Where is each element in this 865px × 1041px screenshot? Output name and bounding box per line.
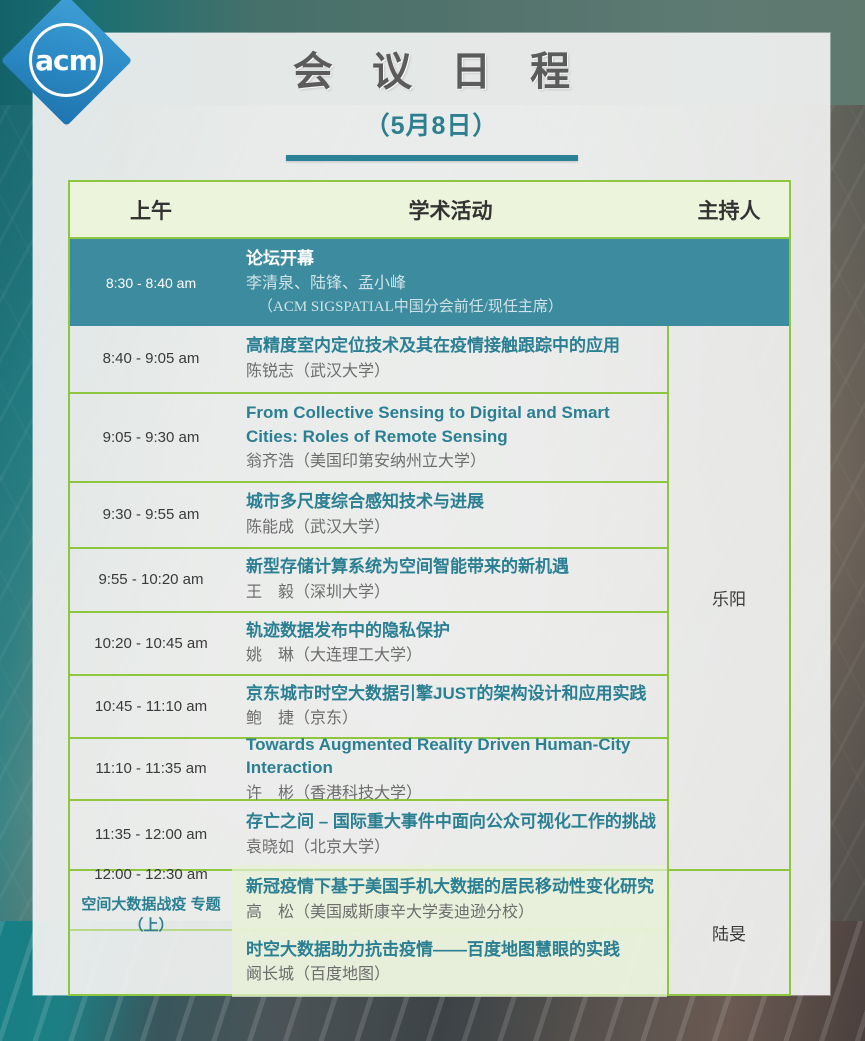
opening-ceremony-row: 8:30 - 8:40 am 论坛开幕 李清泉、陆锋、孟小峰 （ACM SIGS… [70,239,789,326]
host-name: 乐阳 [669,326,789,871]
opening-title: 论坛开幕 [246,247,789,272]
session-title: 轨迹数据发布中的隐私保护 [246,619,657,642]
conference-schedule-poster: acm 会 议 日 程 （5月8日） 上午 学术活动 主持人 8:30 - 8:… [0,0,865,1041]
session-activity: 轨迹数据发布中的隐私保护 姚 琳（大连理工大学） [232,609,667,678]
table-row: 11:35 - 12:00 am 存亡之间 – 国际重大事件中面向公众可视化工作… [70,801,667,871]
opening-time: 8:30 - 8:40 am [70,275,232,291]
session-activity: 新冠疫情下基于美国手机大数据的居民移动性变化研究 高 松（美国威斯康辛大学麦迪逊… [232,865,667,934]
session-title: From Collective Sensing to Digital and S… [246,401,657,448]
table-header-row: 上午 学术活动 主持人 [70,182,789,239]
logo-text: acm [29,23,103,97]
session-speaker: 阚长城（百度地图） [246,963,657,987]
table-row: 时空大数据助力抗击疫情——百度地图慧眼的实践 阚长城（百度地图） [70,931,667,994]
column-header-time: 上午 [70,195,232,225]
session-time: 12:00 - 12:30 am [70,864,232,886]
table-row: 12:00 - 12:30 am 空间大数据战疫 专题（上） 新冠疫情下基于美国… [70,871,667,931]
session-speaker: 高 松（美国威斯康辛大学麦迪逊分校） [246,901,657,925]
session-title: 高精度室内定位技术及其在疫情接触跟踪中的应用 [246,334,657,357]
table-row: 9:05 - 9:30 am From Collective Sensing t… [70,394,667,483]
session-time: 8:40 - 9:05 am [70,348,232,370]
session-title: 城市多尺度综合感知技术与进展 [246,490,657,513]
session-speaker: 姚 琳（大连理工大学） [246,644,657,668]
page-title: 会 议 日 程 [33,48,830,96]
session-activity: 时空大数据助力抗击疫情——百度地图慧眼的实践 阚长城（百度地图） [232,928,667,997]
table-row: 9:55 - 10:20 am 新型存储计算系统为空间智能带来的新机遇 王 毅（… [70,549,667,613]
session-time: 10:20 - 10:45 am [70,633,232,655]
opening-speakers: 李清泉、陆锋、孟小峰 [246,272,789,296]
host-column: 乐阳 陆旻 [669,326,789,994]
session-speaker: 王 毅（深圳大学） [246,581,657,605]
session-time: 9:05 - 9:30 am [70,427,232,449]
column-header-host: 主持人 [669,195,789,225]
opening-affiliation: （ACM SIGSPATIAL中国分会前任/现任主席） [246,296,789,319]
session-activity: From Collective Sensing to Digital and S… [232,391,667,484]
session-title: 存亡之间 – 国际重大事件中面向公众可视化工作的挑战 [246,810,657,833]
opening-body: 论坛开幕 李清泉、陆锋、孟小峰 （ACM SIGSPATIAL中国分会前任/现任… [232,239,789,326]
session-speaker: 翁齐浩（美国印第安纳州立大学） [246,450,657,474]
host-name: 陆旻 [669,871,789,994]
session-title: 时空大数据助力抗击疫情——百度地图慧眼的实践 [246,938,657,961]
table-row: 8:40 - 9:05 am 高精度室内定位技术及其在疫情接触跟踪中的应用 陈锐… [70,326,667,394]
session-time: 9:30 - 9:55 am [70,504,232,526]
session-activity: 新型存储计算系统为空间智能带来的新机遇 王 毅（深圳大学） [232,545,667,614]
page-subtitle: （5月8日） [33,106,830,142]
table-row: 9:30 - 9:55 am 城市多尺度综合感知技术与进展 陈能成（武汉大学） [70,483,667,549]
table-body: 8:40 - 9:05 am 高精度室内定位技术及其在疫情接触跟踪中的应用 陈锐… [70,326,789,994]
session-time: 11:35 - 12:00 am [70,824,232,846]
column-header-activity: 学术活动 [232,195,669,225]
session-time-block: 12:00 - 12:30 am 空间大数据战疫 专题（上） [70,864,232,936]
session-activity: 存亡之间 – 国际重大事件中面向公众可视化工作的挑战 袁晓如（北京大学） [232,800,667,869]
session-title: 新冠疫情下基于美国手机大数据的居民移动性变化研究 [246,875,657,898]
session-speaker: 陈锐志（武汉大学） [246,360,657,384]
session-title: 新型存储计算系统为空间智能带来的新机遇 [246,555,657,578]
table-row: 11:10 - 11:35 am Towards Augmented Reali… [70,739,667,801]
acm-logo: acm [6,2,126,122]
session-time: 11:10 - 11:35 am [70,758,232,780]
sessions-column-group: 8:40 - 9:05 am 高精度室内定位技术及其在疫情接触跟踪中的应用 陈锐… [70,326,669,994]
title-underline [286,155,578,161]
session-title: Towards Augmented Reality Driven Human-C… [246,733,657,780]
schedule-table: 上午 学术活动 主持人 8:30 - 8:40 am 论坛开幕 李清泉、陆锋、孟… [68,180,791,996]
session-title: 京东城市时空大数据引擎JUST的架构设计和应用实践 [246,682,657,705]
title-block: 会 议 日 程 （5月8日） [33,48,830,161]
table-row: 10:20 - 10:45 am 轨迹数据发布中的隐私保护 姚 琳（大连理工大学… [70,613,667,676]
session-activity: 高精度室内定位技术及其在疫情接触跟踪中的应用 陈锐志（武汉大学） [232,324,667,393]
session-speaker: 袁晓如（北京大学） [246,836,657,860]
session-time: 9:55 - 10:20 am [70,569,232,591]
session-speaker: 陈能成（武汉大学） [246,516,657,540]
session-time: 10:45 - 11:10 am [70,696,232,718]
session-topic-label: 空间大数据战疫 专题（上） [70,894,232,936]
session-activity: 城市多尺度综合感知技术与进展 陈能成（武汉大学） [232,480,667,549]
